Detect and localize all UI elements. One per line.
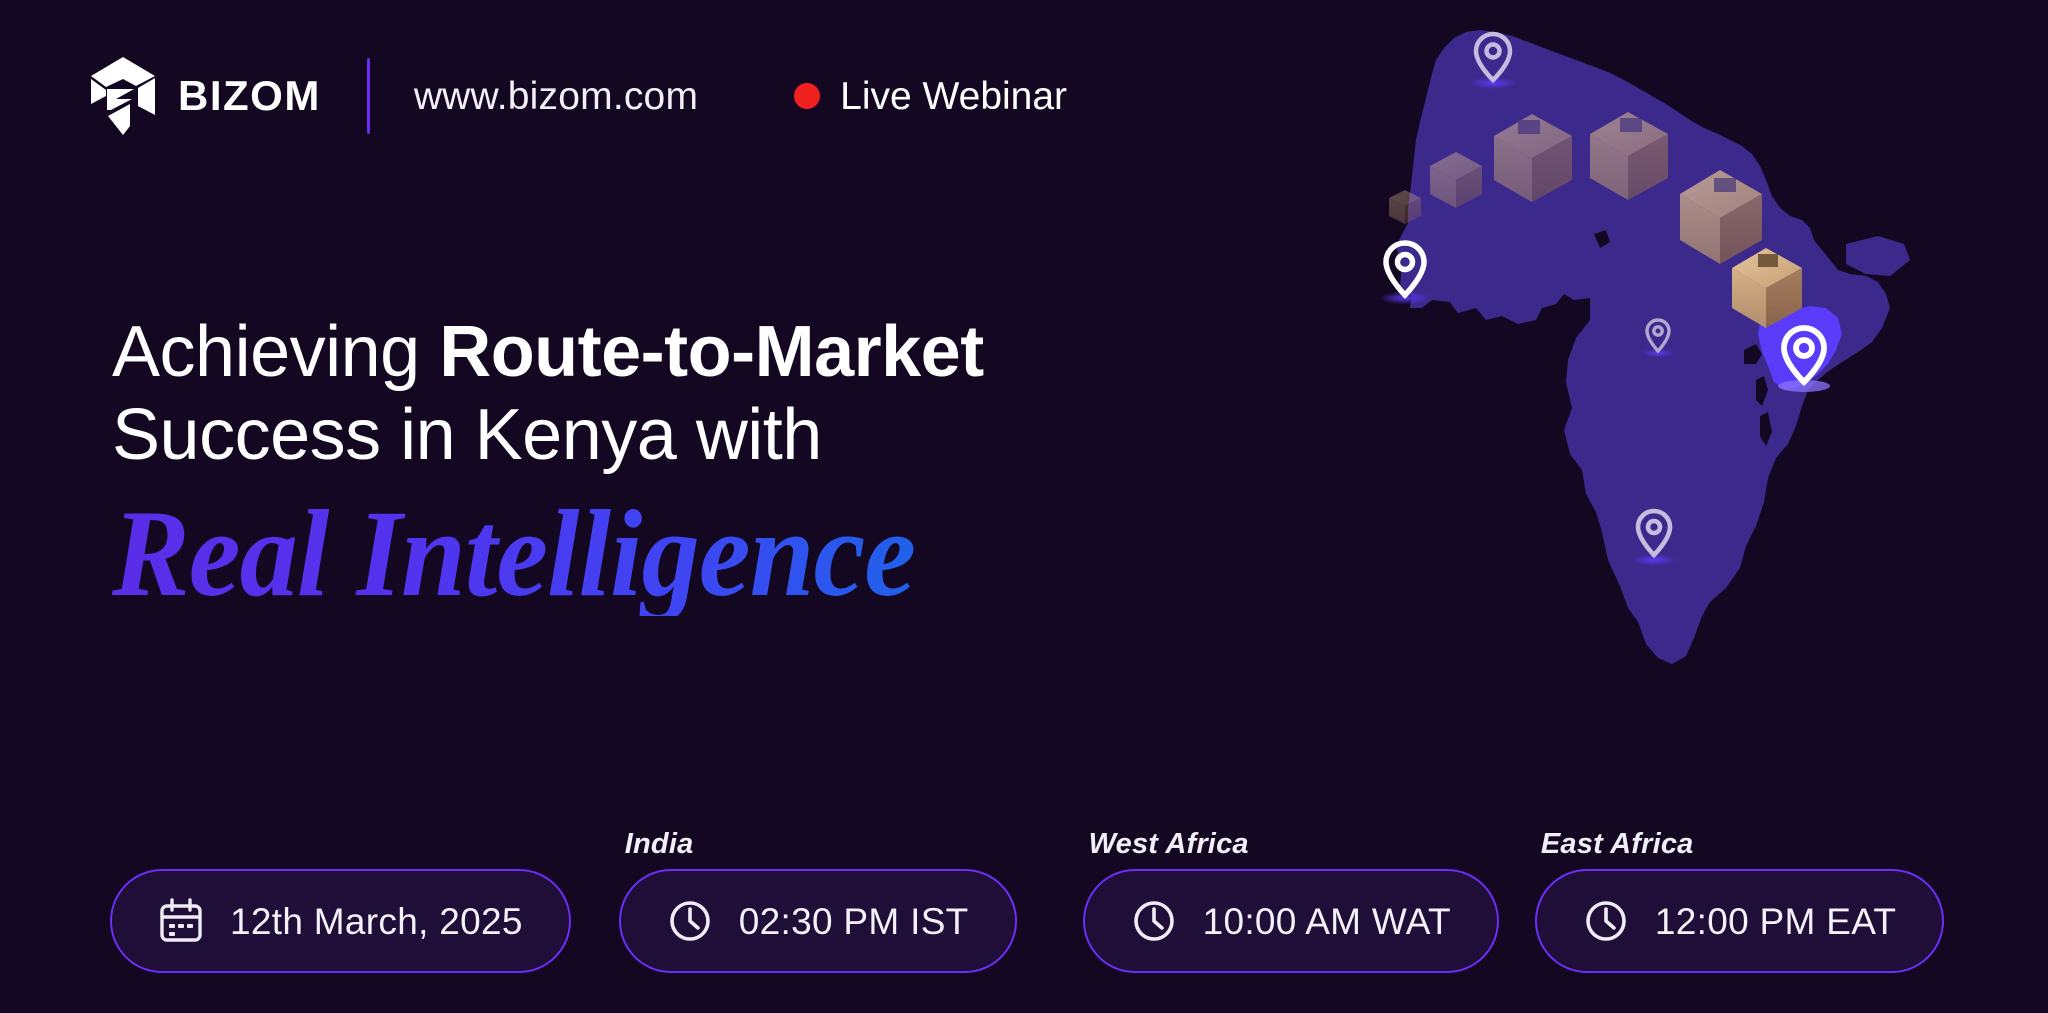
headline-block: Achieving Route-to-Market Success in Ken… — [112, 318, 1232, 616]
schedule-group-india: India 02:30 PM IST — [619, 830, 1017, 973]
live-webinar-badge: Live Webinar — [794, 77, 1067, 116]
schedule-caption-west-africa: West Africa — [1089, 830, 1499, 859]
headline-line-1-normal: Achieving — [112, 312, 439, 392]
time-value-west-africa: 10:00 AM WAT — [1203, 903, 1451, 940]
clock-icon — [667, 898, 713, 944]
time-pill-west-africa[interactable]: 10:00 AM WAT — [1083, 869, 1499, 973]
header-divider — [367, 58, 370, 134]
header-bar: BIZOM www.bizom.com Live Webinar — [86, 58, 1067, 134]
time-value-india: 02:30 PM IST — [739, 903, 969, 940]
schedule-pill-row: 12th March, 2025 India 02:30 PM IST West… — [110, 830, 1944, 973]
website-url[interactable]: www.bizom.com — [414, 77, 698, 116]
time-value-east-africa: 12:00 PM EAT — [1655, 903, 1896, 940]
schedule-group-west-africa: West Africa 10:00 AM WAT — [1083, 830, 1499, 973]
live-red-dot-icon — [794, 83, 820, 109]
webinar-promo-banner: BIZOM www.bizom.com Live Webinar Achievi… — [0, 0, 2048, 1013]
headline-line-2: Success in Kenya with — [112, 401, 1232, 470]
date-value: 12th March, 2025 — [230, 903, 523, 940]
schedule-group-east-africa: East Africa 12:00 PM EAT — [1535, 830, 1944, 973]
africa-map-svg — [1290, 8, 1930, 738]
time-pill-india[interactable]: 02:30 PM IST — [619, 869, 1017, 973]
headline-line-1: Achieving Route-to-Market — [112, 318, 1232, 387]
live-webinar-label: Live Webinar — [840, 77, 1067, 116]
schedule-caption-east-africa: East Africa — [1541, 830, 1944, 859]
time-pill-east-africa[interactable]: 12:00 PM EAT — [1535, 869, 1944, 973]
clock-icon — [1583, 898, 1629, 944]
clock-icon — [1131, 898, 1177, 944]
schedule-group-date: 12th March, 2025 — [110, 859, 571, 973]
calendar-icon — [158, 898, 204, 944]
date-pill[interactable]: 12th March, 2025 — [110, 869, 571, 973]
africa-map-graphic — [1290, 8, 1930, 738]
brand-wordmark: BIZOM — [178, 75, 321, 117]
bizom-cube-logo-icon — [86, 54, 160, 138]
brand-logo[interactable]: BIZOM — [86, 54, 321, 138]
headline-script-accent: Real Intelligence — [112, 492, 1165, 616]
schedule-caption-india: India — [625, 830, 1017, 859]
headline-line-1-strong: Route-to-Market — [439, 312, 984, 392]
